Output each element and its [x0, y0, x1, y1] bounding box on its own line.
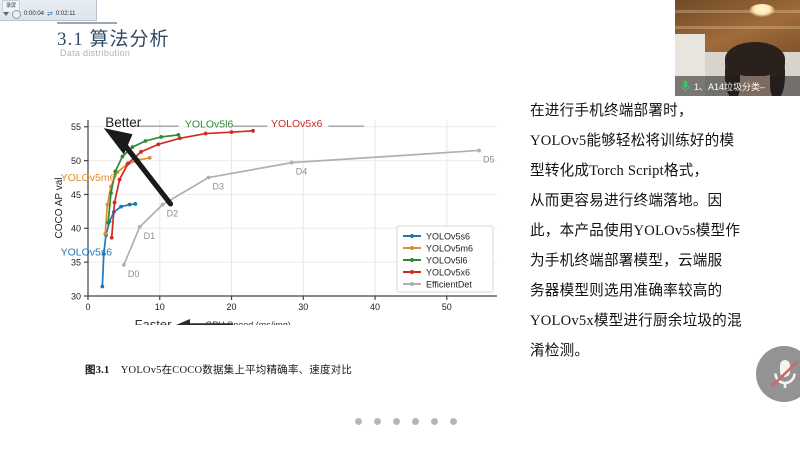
- legend-marker: [410, 234, 414, 238]
- data-point: [109, 191, 113, 195]
- loop-icon[interactable]: ⇄: [47, 10, 53, 18]
- body-text-line: 型转化成Torch Script格式，: [530, 156, 792, 186]
- legend-label: YOLOv5x6: [426, 267, 470, 277]
- page-subtitle: Data distribution: [60, 48, 130, 58]
- legend-marker: [410, 258, 414, 262]
- figure-caption-number: 图3.1: [85, 365, 109, 376]
- pagination-dot[interactable]: [450, 418, 457, 425]
- x-axis-tick-label: 50: [442, 302, 452, 312]
- legend-label: YOLOv5s6: [426, 231, 470, 241]
- webcam-tile[interactable]: 1、A14垃圾分类–: [675, 0, 800, 96]
- faster-arrow-head: [176, 319, 190, 325]
- body-text-line: YOLOv5能够轻松将训练好的模: [530, 126, 792, 156]
- mute-indicator-bubble[interactable]: [756, 346, 800, 402]
- data-point: [230, 130, 234, 134]
- participant-name-bar: 1、A14垃圾分类–: [675, 76, 800, 96]
- x-axis-tick-label: 0: [85, 302, 90, 312]
- data-point: [138, 225, 142, 229]
- ceiling-beam: [675, 26, 800, 29]
- microphone-icon: [681, 80, 690, 93]
- data-point: [121, 155, 125, 159]
- body-text-line: YOLOv5x模型进行厨余垃圾的混: [530, 306, 792, 336]
- data-point: [110, 236, 114, 240]
- slide-pagination-dots[interactable]: [355, 418, 457, 425]
- faster-annotation-label: Faster: [135, 317, 173, 325]
- legend-marker: [410, 270, 414, 274]
- caret-down-icon[interactable]: [3, 12, 9, 16]
- legend-label: YOLOv5l6: [426, 255, 468, 265]
- pagination-dot[interactable]: [374, 418, 381, 425]
- data-point: [103, 232, 107, 236]
- pagination-dot[interactable]: [412, 418, 419, 425]
- data-point: [144, 139, 148, 143]
- data-point: [139, 150, 143, 154]
- figure-caption-text: YOLOv5在COCO数据集上平均精确率、速度对比: [121, 365, 352, 376]
- yolov5-coco-ap-vs-speed-chart: 30354045505501020304050COCO AP valGPU Sp…: [48, 110, 503, 325]
- pagination-dot[interactable]: [393, 418, 400, 425]
- data-point: [177, 133, 181, 137]
- data-point: [106, 221, 110, 225]
- body-text-line: 淆检测。: [530, 336, 792, 366]
- data-point: [290, 161, 294, 165]
- y-axis-tick-label: 35: [71, 258, 81, 268]
- data-point: [118, 178, 122, 182]
- body-text-block: 在进行手机终端部署时，YOLOv5能够轻松将训练好的模型转化成Torch Scr…: [530, 96, 792, 366]
- y-axis-tick-label: 55: [71, 122, 81, 132]
- data-point: [161, 203, 165, 207]
- data-point: [207, 176, 211, 180]
- y-axis-tick-label: 30: [71, 291, 81, 301]
- series-annotation-yolov5l6: YOLOv5l6: [185, 119, 234, 131]
- data-point: [100, 285, 104, 289]
- x-axis-tick-label: 40: [370, 302, 380, 312]
- y-axis-tick-label: 40: [71, 224, 81, 234]
- screen-recorder-toolbar[interactable]: 录屏 0:00:04 ⇄ 0:02:11: [0, 0, 97, 21]
- data-point: [113, 201, 117, 205]
- data-point: [477, 149, 481, 153]
- x-axis-tick-label: 30: [298, 302, 308, 312]
- participant-name-label: 1、A14垃圾分类–: [694, 80, 765, 93]
- y-axis-tick-label: 45: [71, 190, 81, 200]
- legend-label: EfficientDet: [426, 279, 472, 289]
- data-point: [131, 145, 135, 149]
- y-axis-tick-label: 50: [71, 156, 81, 166]
- better-annotation-label: Better: [105, 115, 142, 130]
- series-annotation-yolov5x6: YOLOv5x6: [271, 118, 323, 130]
- page-title: 3.1 算法分析: [57, 24, 170, 51]
- data-point: [119, 205, 123, 209]
- data-point: [156, 142, 160, 146]
- data-point: [204, 132, 208, 136]
- pagination-dot[interactable]: [355, 418, 362, 425]
- legend-label: YOLOv5m6: [426, 243, 473, 253]
- data-point: [159, 135, 163, 139]
- x-axis-tick-label: 10: [155, 302, 165, 312]
- chart-figure: 30354045505501020304050COCO AP valGPU Sp…: [48, 110, 503, 325]
- data-point: [126, 161, 130, 165]
- series-annotation-yolov5m6: YOLOv5m6: [61, 172, 116, 184]
- legend-marker: [410, 282, 414, 286]
- microphone-muted-icon: [770, 358, 800, 390]
- ceiling-beam: [675, 10, 800, 13]
- data-point: [105, 203, 109, 207]
- x-axis-tick-label: 20: [227, 302, 237, 312]
- data-point-label: D3: [213, 182, 225, 192]
- body-text-line: 务器模型则选用准确率较高的: [530, 276, 792, 306]
- data-point-label: D5: [483, 154, 495, 164]
- body-text-line: 此，本产品使用YOLOv5s模型作: [530, 216, 792, 246]
- body-text-line: 在进行手机终端部署时，: [530, 96, 792, 126]
- data-point: [122, 263, 126, 267]
- data-point: [128, 203, 132, 207]
- recorder-total-time: 0:02:11: [56, 11, 76, 17]
- series-annotation-yolov5s6: YOLOv5s6: [61, 246, 113, 258]
- slide-stage: 录屏 0:00:04 ⇄ 0:02:11 3.1 算法分析 Data distr…: [0, 0, 800, 450]
- pagination-dot[interactable]: [431, 418, 438, 425]
- body-text-line: 为手机终端部署模型，云端服: [530, 246, 792, 276]
- record-circle-icon[interactable]: [12, 10, 21, 19]
- data-point: [148, 156, 152, 160]
- legend-marker: [410, 246, 414, 250]
- body-text-line: 从而更容易进行终端落地。因: [530, 186, 792, 216]
- y-axis-label: COCO AP val: [54, 178, 65, 239]
- figure-caption: 图3.1 YOLOv5在COCO数据集上平均精确率、速度对比: [85, 362, 352, 377]
- ceiling-lamp: [749, 4, 775, 17]
- data-point-label: D1: [144, 231, 156, 241]
- data-point: [178, 136, 182, 140]
- data-point-label: D0: [128, 269, 140, 279]
- data-point: [133, 202, 137, 206]
- recorder-elapsed-time: 0:00:04: [24, 11, 44, 17]
- data-point-label: D2: [167, 209, 179, 219]
- data-point-label: D4: [296, 167, 308, 177]
- data-point: [251, 129, 255, 133]
